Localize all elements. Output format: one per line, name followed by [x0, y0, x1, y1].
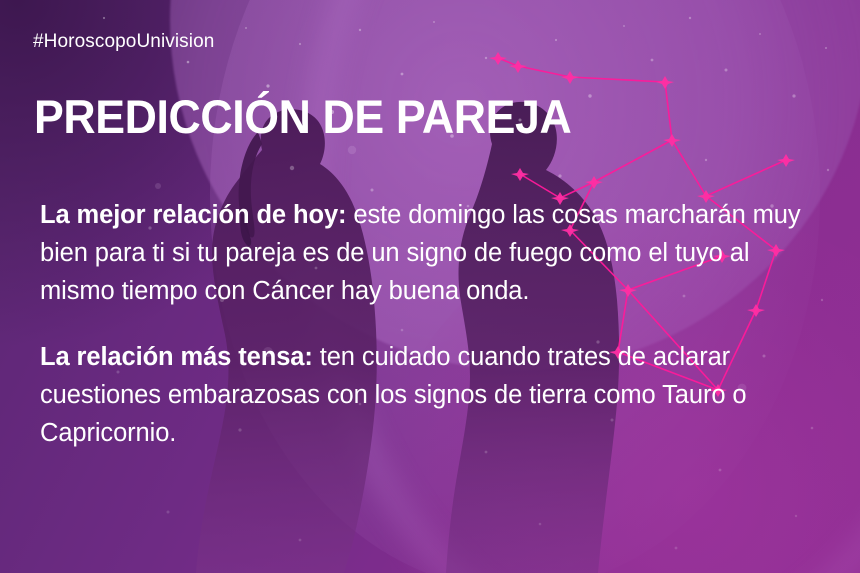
horoscope-card: #HoroscopoUnivision PREDICCIÓN DE PAREJA… — [0, 0, 860, 573]
hashtag-label: #HoroscopoUnivision — [33, 31, 214, 53]
paragraph-tense-match: La relación más tensa: ten cuidado cuand… — [40, 338, 830, 452]
card-content: #HoroscopoUnivision PREDICCIÓN DE PAREJA… — [0, 0, 860, 573]
page-title: PREDICCIÓN DE PAREJA — [34, 92, 571, 142]
body-text: La mejor relación de hoy: este domingo l… — [40, 196, 830, 452]
paragraph-tense-match-lead: La relación más tensa: — [40, 343, 313, 371]
paragraph-best-match-lead: La mejor relación de hoy: — [40, 201, 346, 229]
paragraph-best-match: La mejor relación de hoy: este domingo l… — [40, 196, 830, 310]
